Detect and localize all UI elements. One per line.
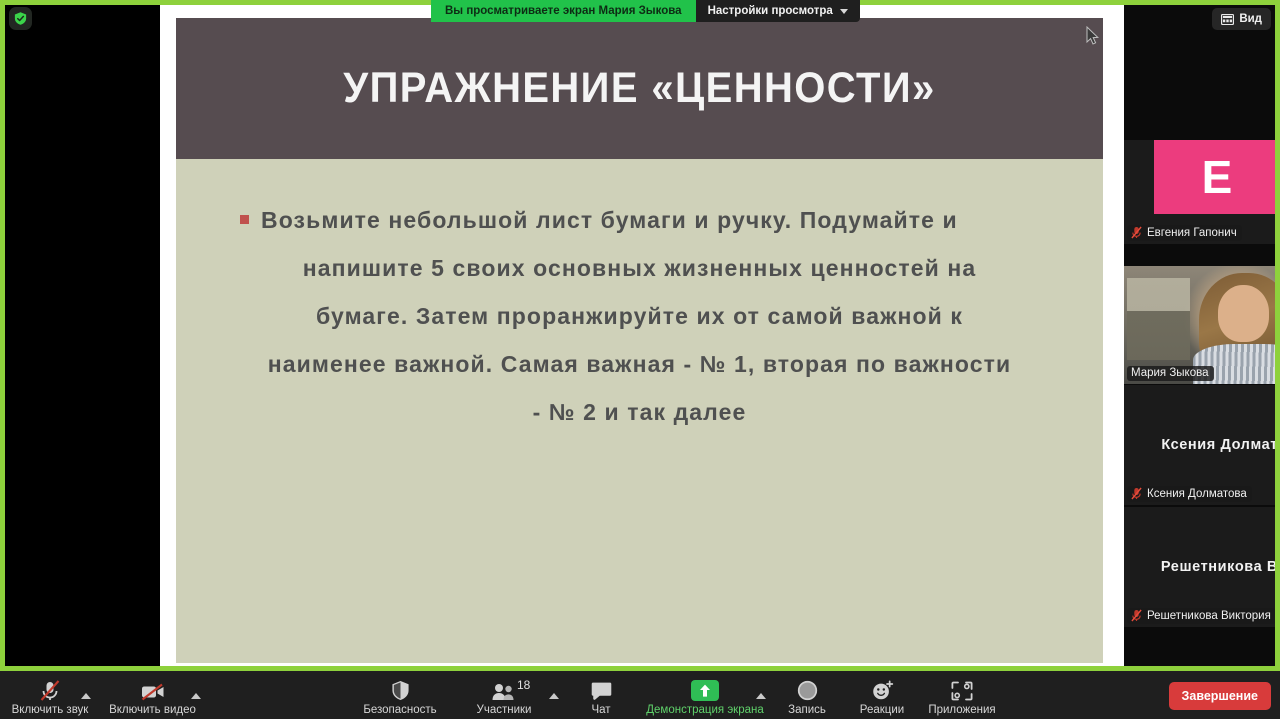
toolbar-security-button[interactable]: Безопасность: [360, 679, 440, 716]
participant-tile[interactable]: Мария Зыкова: [1124, 266, 1280, 384]
toolbar-label: Включить видео: [109, 704, 196, 716]
chevron-down-icon: [840, 9, 848, 14]
slide-line-text: Возьмите небольшой лист бумаги и ручку. …: [261, 196, 958, 244]
shield-check-icon[interactable]: [9, 7, 32, 30]
participant-name-text: Ксения Долматова: [1147, 488, 1247, 500]
microphone-muted-icon: [1131, 487, 1142, 500]
mouse-cursor: [1086, 26, 1099, 50]
toolbar-participants-button[interactable]: 18 Участники: [466, 679, 542, 716]
participant-name-label: Евгения Гапонич: [1127, 225, 1242, 241]
share-status-label: Вы просматриваете экран Мария Зыкова: [431, 0, 696, 22]
participant-tile[interactable]: Решетникова В Решетникова Виктория: [1124, 507, 1280, 627]
toolbar-label: Включить звук: [12, 704, 89, 716]
slide-line: бумаге. Затем проранжируйте их от самой …: [234, 292, 1045, 340]
record-circle-icon: [797, 679, 818, 701]
toolbar-unmute-button[interactable]: Включить звук: [10, 679, 90, 716]
chat-bubble-icon: [591, 679, 612, 701]
video-background-kitchen: [1127, 278, 1189, 361]
participant-name-label: Мария Зыкова: [1127, 366, 1214, 381]
slide-line: напишите 5 своих основных жизненных ценн…: [234, 244, 1045, 292]
participants-options-caret-icon[interactable]: [549, 693, 559, 699]
shield-icon: [391, 679, 410, 701]
participant-name-text: Евгения Гапонич: [1147, 227, 1237, 239]
toolbar-label: Чат: [591, 704, 610, 716]
slide-header-band: УПРАЖНЕНИЕ «ЦЕННОСТИ»: [176, 18, 1103, 159]
toolbar-label: Безопасность: [363, 704, 436, 716]
toolbar-chat-button[interactable]: Чат: [580, 679, 622, 716]
screen-share-banner: Вы просматриваете экран Мария Зыкова Нас…: [431, 0, 860, 22]
video-person-face: [1218, 285, 1269, 342]
avatar: Е: [1154, 140, 1280, 214]
layout-grid-icon: [1221, 14, 1234, 25]
toolbar-label: Запись: [788, 704, 826, 716]
view-button-label: Вид: [1239, 13, 1262, 25]
microphone-muted-icon: [40, 679, 60, 701]
slide-bullet-line: Возьмите небольшой лист бумаги и ручку. …: [234, 196, 1045, 244]
participant-name-text: Мария Зыкова: [1131, 367, 1209, 379]
participant-rail: Вид Е Евгения Гапонич: [1124, 0, 1280, 671]
participant-name-label: Ксения Долматова: [1127, 486, 1252, 502]
toolbar-record-button[interactable]: Запись: [780, 679, 834, 716]
view-settings-button[interactable]: Настройки просмотра: [696, 0, 860, 22]
slide-title: УПРАЖНЕНИЕ «ЦЕННОСТИ»: [343, 64, 935, 113]
share-options-caret-icon[interactable]: [756, 693, 766, 699]
microphone-muted-icon: [1131, 609, 1142, 622]
audio-options-caret-icon[interactable]: [81, 693, 91, 699]
participant-display-name: Ксения Долмат: [1124, 437, 1280, 453]
toolbar-start-video-button[interactable]: Включить видео: [105, 679, 200, 716]
view-settings-label: Настройки просмотра: [708, 5, 833, 17]
view-button[interactable]: Вид: [1212, 8, 1271, 30]
toolbar-label: Демонстрация экрана: [646, 704, 764, 716]
participant-tile[interactable]: Е Евгения Гапонич: [1124, 140, 1280, 244]
shared-screen-document: УПРАЖНЕНИЕ «ЦЕННОСТИ» Возьмите небольшой…: [160, 0, 1124, 671]
participant-name-label: Решетникова Виктория: [1127, 608, 1276, 624]
apps-icon: [951, 679, 973, 701]
participants-count: 18: [517, 678, 530, 692]
participant-name-text: Решетникова Виктория: [1147, 610, 1271, 622]
toolbar-label: Приложения: [928, 704, 995, 716]
meeting-toolbar: Включить звук Включить видео: [0, 671, 1280, 719]
slide-body: Возьмите небольшой лист бумаги и ручку. …: [176, 168, 1103, 436]
toolbar-label: Реакции: [860, 704, 904, 716]
end-meeting-button[interactable]: Завершение: [1169, 682, 1271, 710]
toolbar-label: Участники: [477, 704, 532, 716]
smiley-plus-icon: [871, 679, 894, 701]
slide-line: наименее важной. Самая важная - № 1, вто…: [234, 340, 1045, 388]
participant-tile[interactable]: Ксения Долмат Ксения Долматова: [1124, 385, 1280, 505]
microphone-muted-icon: [1131, 226, 1142, 239]
participant-display-name: Решетникова В: [1124, 559, 1280, 575]
toolbar-reactions-button[interactable]: Реакции: [850, 679, 914, 716]
toolbar-apps-button[interactable]: Приложения: [920, 679, 1004, 716]
video-options-caret-icon[interactable]: [191, 693, 201, 699]
zoom-meeting-window: УПРАЖНЕНИЕ «ЦЕННОСТИ» Возьмите небольшой…: [0, 0, 1280, 719]
share-screen-up-arrow-icon: [691, 679, 719, 701]
presentation-slide: УПРАЖНЕНИЕ «ЦЕННОСТИ» Возьмите небольшой…: [176, 18, 1103, 663]
slide-line: - № 2 и так далее: [234, 388, 1045, 436]
toolbar-share-screen-button[interactable]: Демонстрация экрана: [640, 679, 770, 716]
camera-muted-icon: [141, 679, 165, 701]
bullet-square-icon: [240, 215, 249, 224]
participants-icon: 18: [491, 679, 517, 701]
